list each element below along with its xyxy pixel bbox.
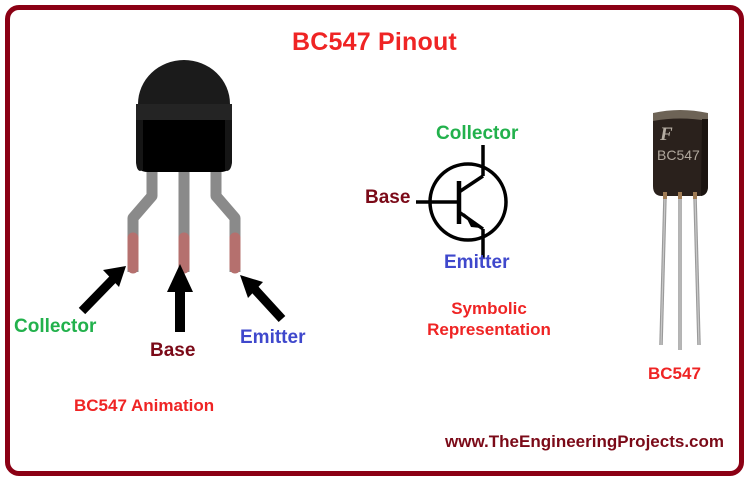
arrow-collector-icon (82, 266, 126, 311)
body-shade-left (136, 120, 143, 171)
symbol-caption-line1: Symbolic (389, 298, 589, 319)
photo-leads (661, 196, 699, 350)
symbol-label-emitter: Emitter (444, 252, 509, 274)
symbol-caption-line2: Representation (389, 319, 589, 340)
photo-part-marking: BC547 (657, 147, 700, 163)
arrow-base-icon (167, 264, 193, 332)
animation-label-collector: Collector (14, 316, 96, 338)
animation-caption: BC547 Animation (74, 396, 214, 416)
symbol-collector-diagonal (459, 176, 483, 192)
website-footer: www.TheEngineeringProjects.com (0, 432, 724, 452)
symbol-label-base: Base (365, 187, 410, 209)
transistor-body (136, 60, 232, 172)
body-face (136, 120, 232, 172)
transistor-symbol (416, 145, 506, 259)
arrow-emitter-icon (240, 275, 282, 319)
photo-caption: BC547 (648, 364, 701, 384)
animation-label-emitter: Emitter (240, 327, 305, 349)
body-bevel (136, 104, 232, 122)
fairchild-logo-icon: F (659, 124, 673, 145)
pinout-infographic: BC547 Pinout (0, 0, 749, 481)
animation-label-base: Base (150, 340, 195, 362)
pointer-arrows (82, 264, 282, 332)
transistor-leads (133, 168, 235, 272)
body-shade-right (225, 120, 232, 171)
symbol-label-collector: Collector (436, 123, 518, 145)
symbol-caption: Symbolic Representation (389, 298, 589, 340)
transistor-photo: F BC547 (653, 110, 708, 350)
